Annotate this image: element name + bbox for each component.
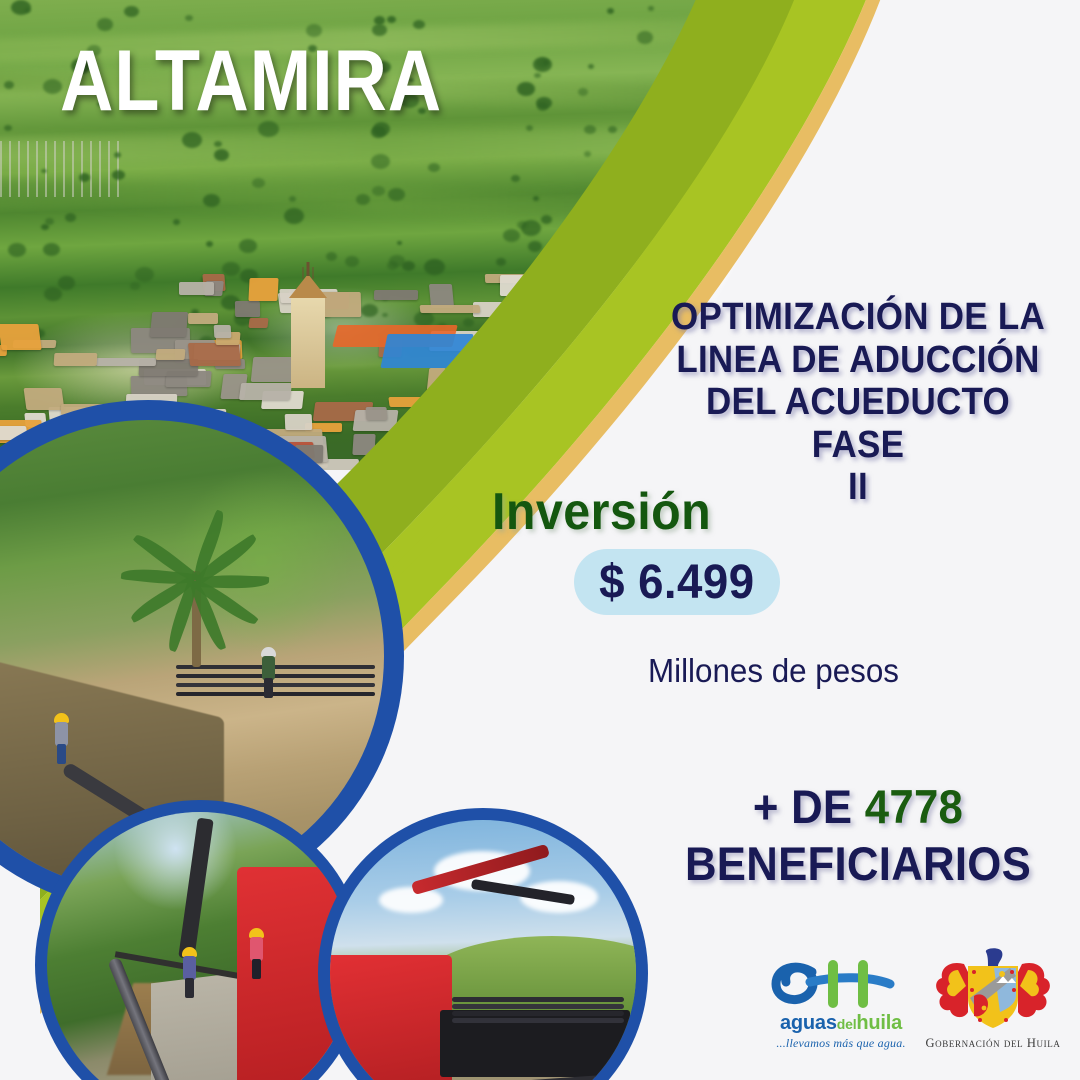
project-title-line: OPTIMIZACIÓN DE LA [665,296,1051,339]
pipe-bundle [452,997,623,1002]
huila-coat-of-arms [928,946,1058,1034]
church-tower [291,296,325,388]
investment-unit: Millones de pesos [648,652,899,690]
project-title: OPTIMIZACIÓN DE LA LINEA DE ADUCCIÓN DEL… [665,296,1051,509]
del-word: del [837,1016,857,1032]
aguas-logo-tagline: ...llevamos más que agua. [766,1036,916,1051]
project-title-line: DEL ACUEDUCTO FASE [665,381,1051,466]
red-crane-truck [330,955,452,1080]
palm-tree [120,496,270,646]
pipe-stack [176,665,374,669]
fence-texture [0,141,120,197]
beneficiaries-count-line: + DE 4778 [663,778,1054,835]
aguas-logo-wordmark: aguasdelhuila [766,1012,916,1035]
gobernacion-del-huila-logo: Gobernación del Huila [928,946,1058,1062]
beneficiaries-block: + DE 4778 BENEFICIARIOS [663,778,1054,893]
infographic-poster: ALTAMIRA OPTIMIZACIÓN DE LA LINEA DE ADU… [0,0,1080,1080]
project-title-line: II [665,466,1051,509]
photo-truck-unloading-pipes [330,820,636,1080]
gobernacion-caption: Gobernación del Huila [922,1036,1064,1051]
page-title-city: ALTAMIRA [60,32,442,131]
investment-amount: $ 6.499 [599,555,754,610]
blue-tarp-roof [381,334,474,368]
investment-amount-badge: $ 6.499 [574,549,780,615]
beneficiaries-prefix: + DE [753,780,853,833]
beneficiaries-noun: BENEFICIARIOS [663,835,1054,892]
aguas-logo-mark [766,952,916,1014]
aguas-del-huila-logo: aguasdelhuila ...llevamos más que agua. [766,952,916,1060]
photo-crane-lifting-pipe-bridge [47,812,353,1080]
investment-label: Inversión [492,482,711,542]
aguas-word: aguas [780,1012,837,1034]
huila-word: huila [856,1012,902,1034]
project-title-line: LINEA DE ADUCCIÓN [665,339,1051,382]
beneficiaries-count: 4778 [865,780,963,833]
truck-bed [440,1010,630,1077]
